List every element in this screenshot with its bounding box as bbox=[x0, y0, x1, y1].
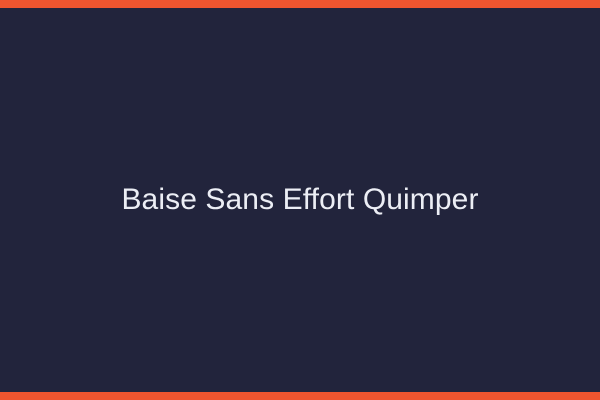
content-stage: Baise Sans Effort Quimper bbox=[0, 8, 600, 392]
page-root: Baise Sans Effort Quimper bbox=[0, 0, 600, 400]
page-title: Baise Sans Effort Quimper bbox=[97, 182, 502, 218]
bottom-accent-bar bbox=[0, 392, 600, 400]
top-accent-bar bbox=[0, 0, 600, 8]
